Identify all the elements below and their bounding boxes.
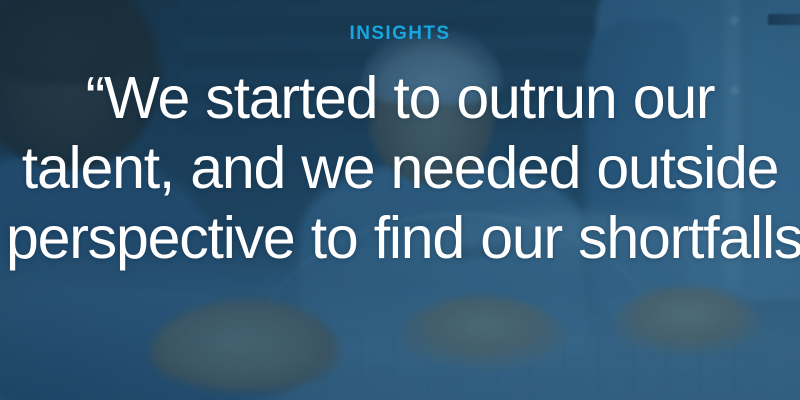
banner-content: INSIGHTS “We started to outrun our talen… xyxy=(0,0,800,400)
insights-quote-banner: INSIGHTS “We started to outrun our talen… xyxy=(0,0,800,400)
eyebrow-label-insights: INSIGHTS xyxy=(350,24,451,43)
testimonial-quote: “We started to outrun our talent, and we… xyxy=(0,63,800,274)
quote-line-3: perspective to find our shortfalls.” xyxy=(6,203,794,273)
quote-line-1: “We started to outrun our xyxy=(6,63,794,133)
quote-line-2: talent, and we needed outside xyxy=(6,133,794,203)
